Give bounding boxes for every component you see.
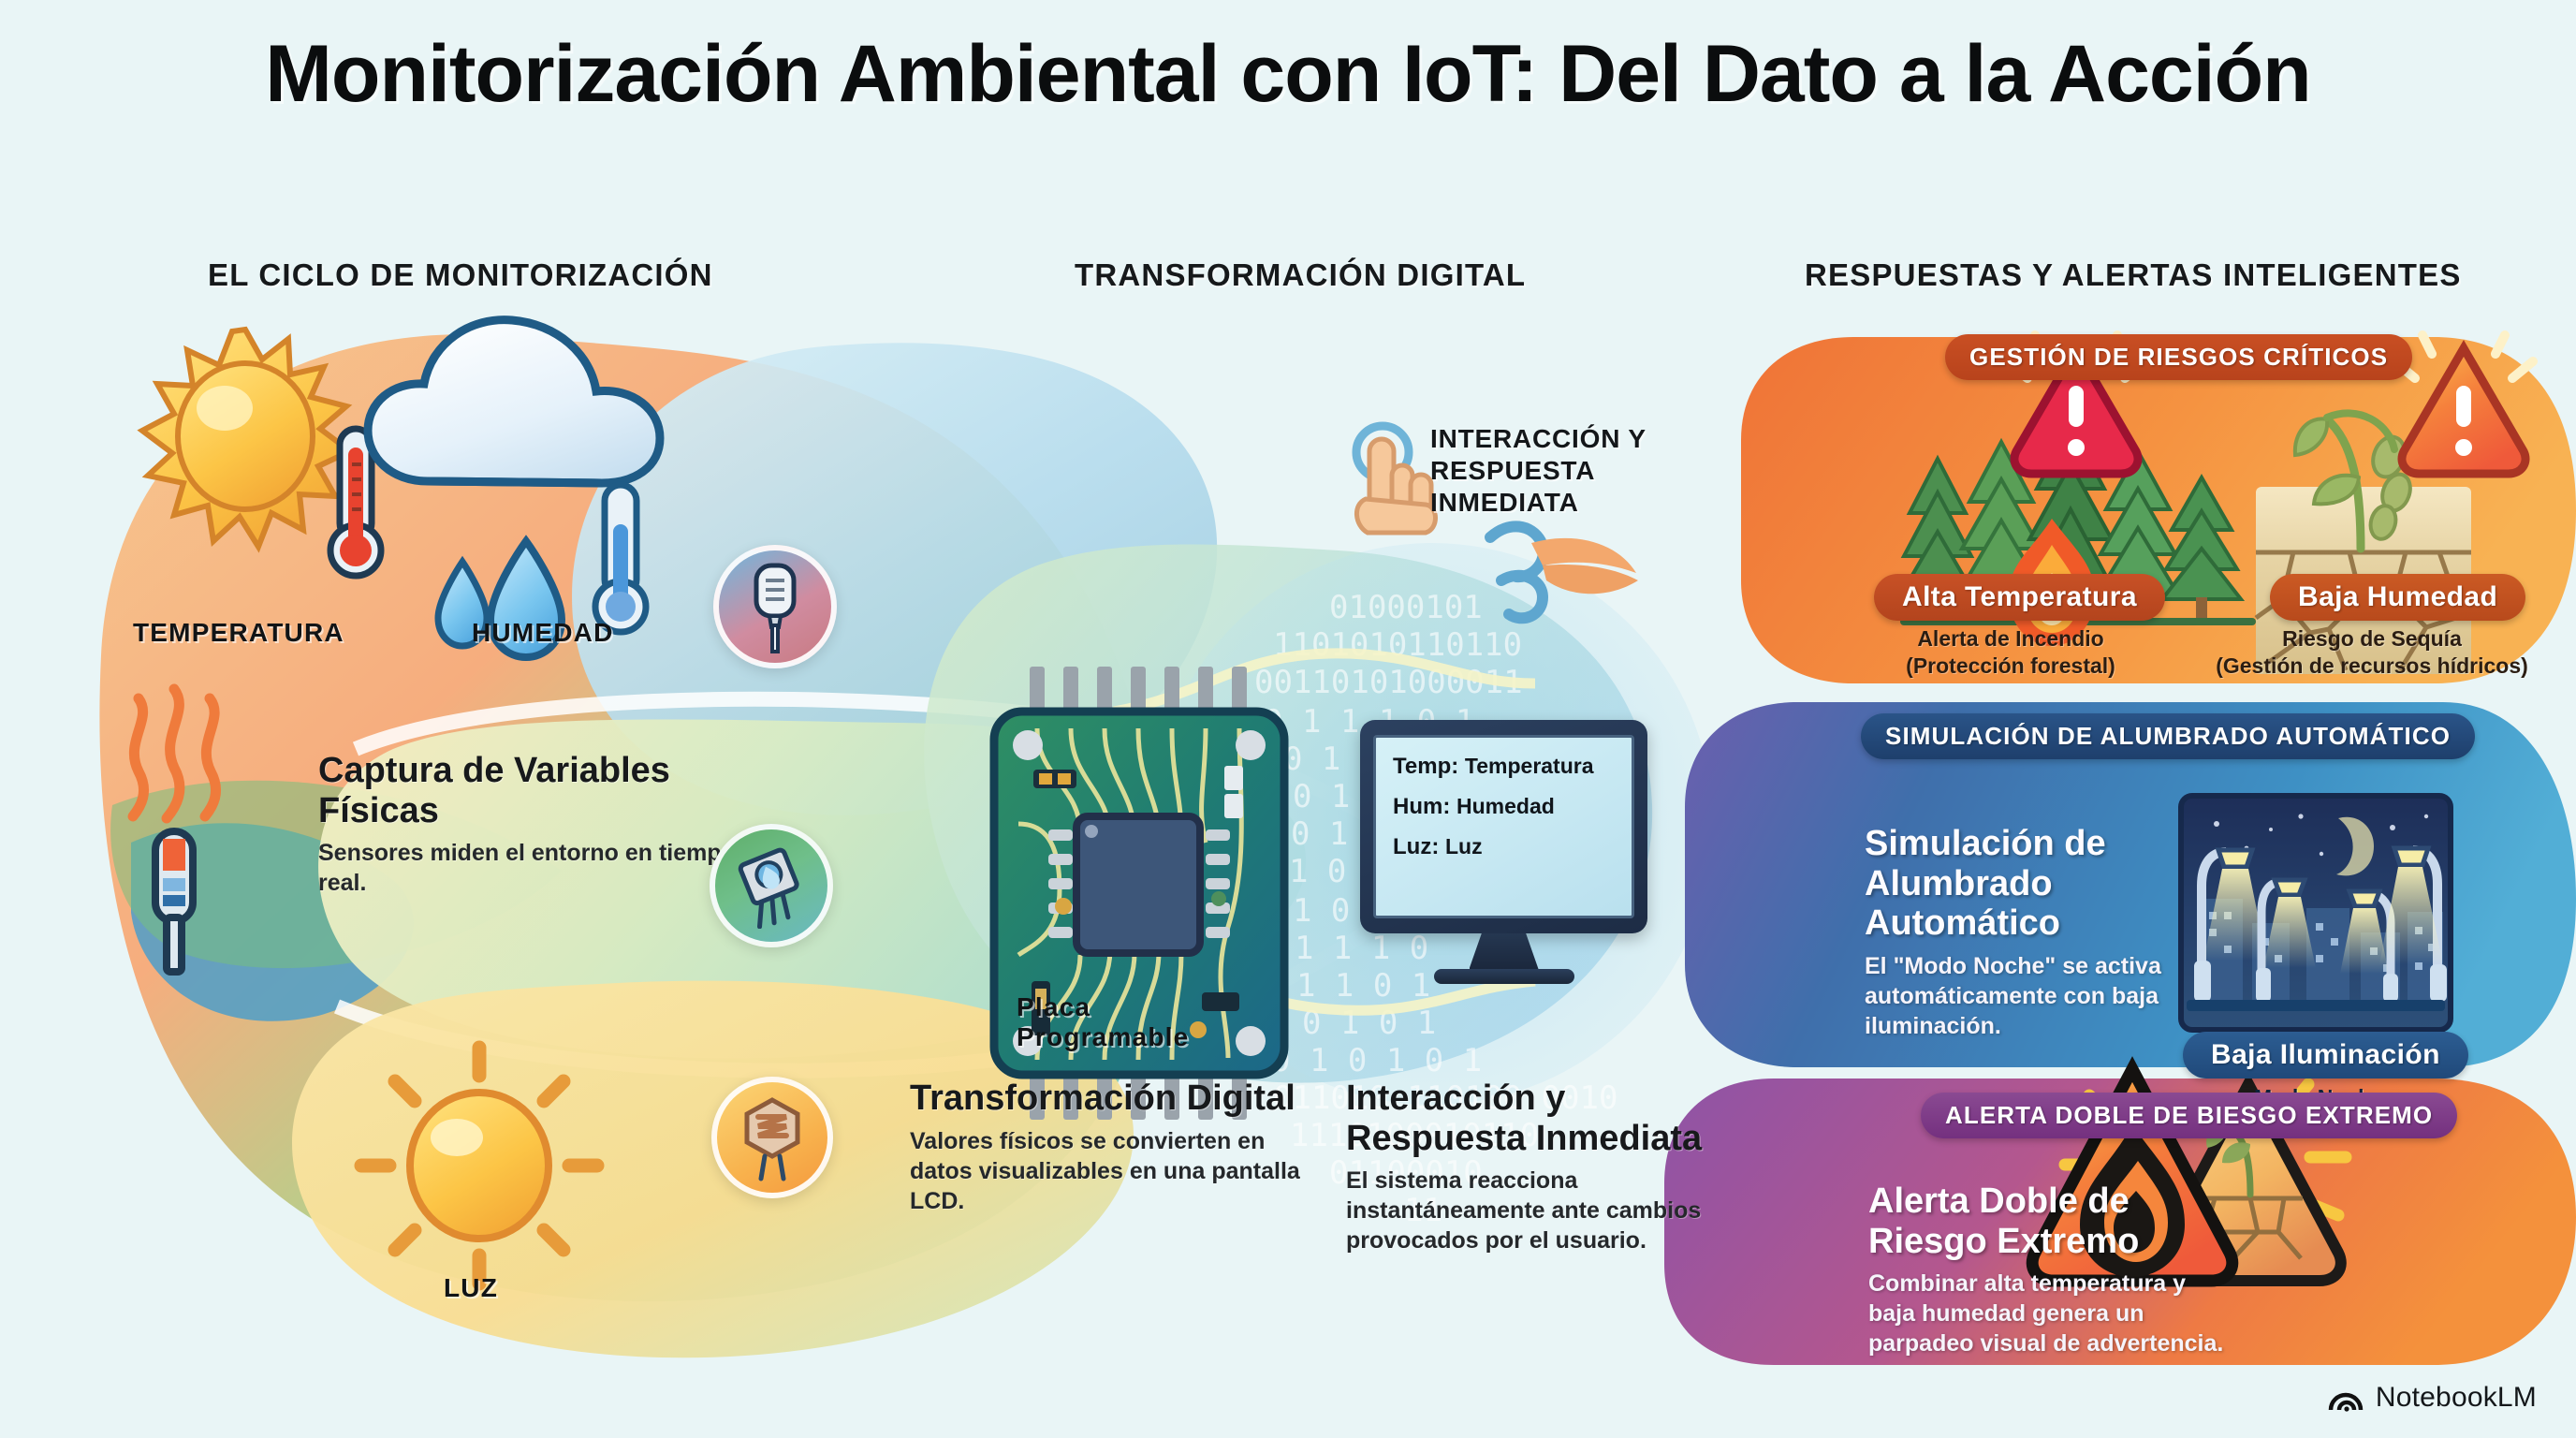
alumbrado-heading: Simulación de Alumbrado Automático xyxy=(1865,824,2179,944)
panel-badge-riesgos: GESTIÓN DE RIESGOS CRÍTICOS xyxy=(1945,334,2412,380)
sensor-badge-light xyxy=(711,1077,833,1198)
caption-alta-temperatura: Alerta de Incendio (Protección forestal) xyxy=(1870,625,2151,679)
transformacion-body: Valores físicos se convierten en datos v… xyxy=(910,1126,1303,1216)
board-label: Placa Programable xyxy=(1017,992,1251,1052)
pill-baja-iluminacion: Baja Iluminación xyxy=(2183,1032,2468,1078)
interaccion-text-block: Interacción y Respuesta Inmediata El sis… xyxy=(1346,1078,1749,1255)
humidity-sensor-module-icon xyxy=(728,843,814,929)
lcd-key-temp: Temp: xyxy=(1393,754,1458,779)
page-title: Monitorización Ambiental con IoT: Del Da… xyxy=(0,28,2576,121)
lcd-value-temp: Temperatura xyxy=(1465,754,1594,778)
lcd-value-luz: Luz xyxy=(1445,834,1483,858)
caption-baja-humedad-line1: Riesgo de Sequía xyxy=(2194,625,2550,653)
variable-label-temperatura: TEMPERATURA xyxy=(133,618,344,648)
photoresistor-ldr-sensor-icon xyxy=(730,1093,814,1182)
caption-alta-temperatura-line1: Alerta de Incendio xyxy=(1870,625,2151,653)
sensor-badge-temperature xyxy=(713,545,837,668)
caption-baja-humedad-line2: (Gestión de recursos hídricos) xyxy=(2194,653,2550,680)
lcd-key-hum: Hum: xyxy=(1393,794,1450,819)
svg-text:0 1 0 1 0 1: 0 1 0 1 0 1 xyxy=(1271,1042,1482,1079)
lcd-row-luz: Luz: Luz xyxy=(1393,835,1617,858)
lcd-key-luz: Luz: xyxy=(1393,834,1439,859)
night-streetlights-icon xyxy=(2181,796,2451,1030)
notebooklm-logo-icon xyxy=(2327,1382,2364,1414)
sensor-badge-humidity xyxy=(710,824,833,947)
interaccion-body: El sistema reacciona instantáneamente an… xyxy=(1346,1166,1749,1255)
transformacion-heading: Transformación Digital xyxy=(910,1078,1303,1119)
column-header-middle: TRANSFORMACIÓN DIGITAL xyxy=(1075,257,1526,293)
lcd-screen: Temp: Temperatura Hum: Humedad Luz: Luz xyxy=(1373,735,1634,918)
alerta-doble-text-block: Alerta Doble de Riesgo Extremo Combinar … xyxy=(1868,1181,2233,1358)
variable-label-luz: LUZ xyxy=(444,1273,498,1303)
watermark: NotebookLM xyxy=(2327,1382,2537,1414)
svg-text:01000101: 01000101 xyxy=(1329,589,1483,626)
pill-baja-humedad: Baja Humedad xyxy=(2270,574,2525,621)
column-header-right: RESPUESTAS Y ALERTAS INTELIGENTES xyxy=(1805,257,2462,293)
pill-alta-temperatura: Alta Temperatura xyxy=(1874,574,2165,621)
lcd-value-hum: Humedad xyxy=(1456,794,1555,818)
capture-heading: Captura de Variables Físicas xyxy=(318,751,749,830)
lcd-stand-neck xyxy=(1470,933,1539,969)
lcd-stand-foot xyxy=(1434,969,1574,984)
capture-body: Sensores miden el entorno en tiempo real… xyxy=(318,838,749,898)
watermark-label: NotebookLM xyxy=(2376,1382,2537,1414)
lcd-row-temp: Temp: Temperatura xyxy=(1393,755,1617,778)
panel-badge-alumbrado: SIMULACIÓN DE ALUMBRADO AUTOMÁTICO xyxy=(1861,713,2475,759)
infographic-canvas: 01000101 1101010110110 00110101000011 0 … xyxy=(0,0,2576,1438)
caption-baja-humedad: Riesgo de Sequía (Gestión de recursos hí… xyxy=(2194,625,2550,679)
column-header-left: EL CICLO DE MONITORIZACIÓN xyxy=(208,257,713,293)
interaction-callout: INTERACCIÓN Y RESPUESTA INMEDIATA xyxy=(1430,423,1720,519)
temperature-probe-sensor-icon xyxy=(738,560,812,653)
transformacion-text-block: Transformación Digital Valores físicos s… xyxy=(910,1078,1303,1216)
alerta-doble-heading: Alerta Doble de Riesgo Extremo xyxy=(1868,1181,2233,1261)
interaccion-heading: Interacción y Respuesta Inmediata xyxy=(1346,1078,1749,1158)
lcd-row-hum: Hum: Humedad xyxy=(1393,795,1617,818)
lcd-bezel: Temp: Temperatura Hum: Humedad Luz: Luz xyxy=(1360,720,1647,933)
lcd-display: Temp: Temperatura Hum: Humedad Luz: Luz xyxy=(1360,720,1647,984)
variable-label-humedad: HUMEDAD xyxy=(472,618,614,648)
alumbrado-body: El "Modo Noche" se activa automáticament… xyxy=(1865,951,2179,1041)
alerta-doble-body: Combinar alta temperatura y baja humedad… xyxy=(1868,1269,2233,1358)
humidity-thermometer-icon xyxy=(595,485,646,632)
capture-text-block: Captura de Variables Físicas Sensores mi… xyxy=(318,751,749,898)
alumbrado-text-block: Simulación de Alumbrado Automático El "M… xyxy=(1865,824,2179,1041)
caption-alta-temperatura-line2: (Protección forestal) xyxy=(1870,653,2151,680)
panel-badge-alerta-doble: ALERTA DOBLE DE BIESGO EXTREMO xyxy=(1921,1093,2457,1138)
